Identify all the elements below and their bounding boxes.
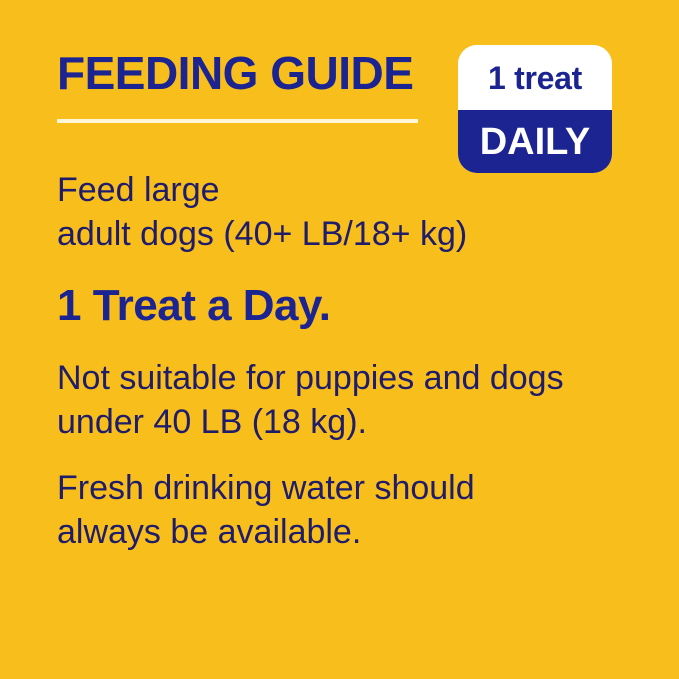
badge-daily-label: DAILY — [480, 123, 591, 161]
page-title: FEEDING GUIDE — [57, 50, 413, 96]
daily-frequency-badge: 1 treat DAILY — [458, 45, 612, 173]
feeding-guide-panel: FEEDING GUIDE 1 treat DAILY Feed large a… — [0, 0, 679, 679]
badge-treat-count-label: 1 treat — [488, 62, 582, 94]
treat-per-day-headline: 1 Treat a Day. — [57, 281, 330, 331]
drinking-water-text: Fresh drinking water should always be av… — [57, 466, 475, 554]
title-divider — [57, 119, 418, 123]
badge-top-section: 1 treat — [458, 45, 612, 110]
suitability-notice-text: Not suitable for puppies and dogs under … — [57, 356, 564, 444]
badge-bottom-section: DAILY — [458, 110, 612, 173]
feed-instruction-text: Feed large adult dogs (40+ LB/18+ kg) — [57, 168, 467, 256]
